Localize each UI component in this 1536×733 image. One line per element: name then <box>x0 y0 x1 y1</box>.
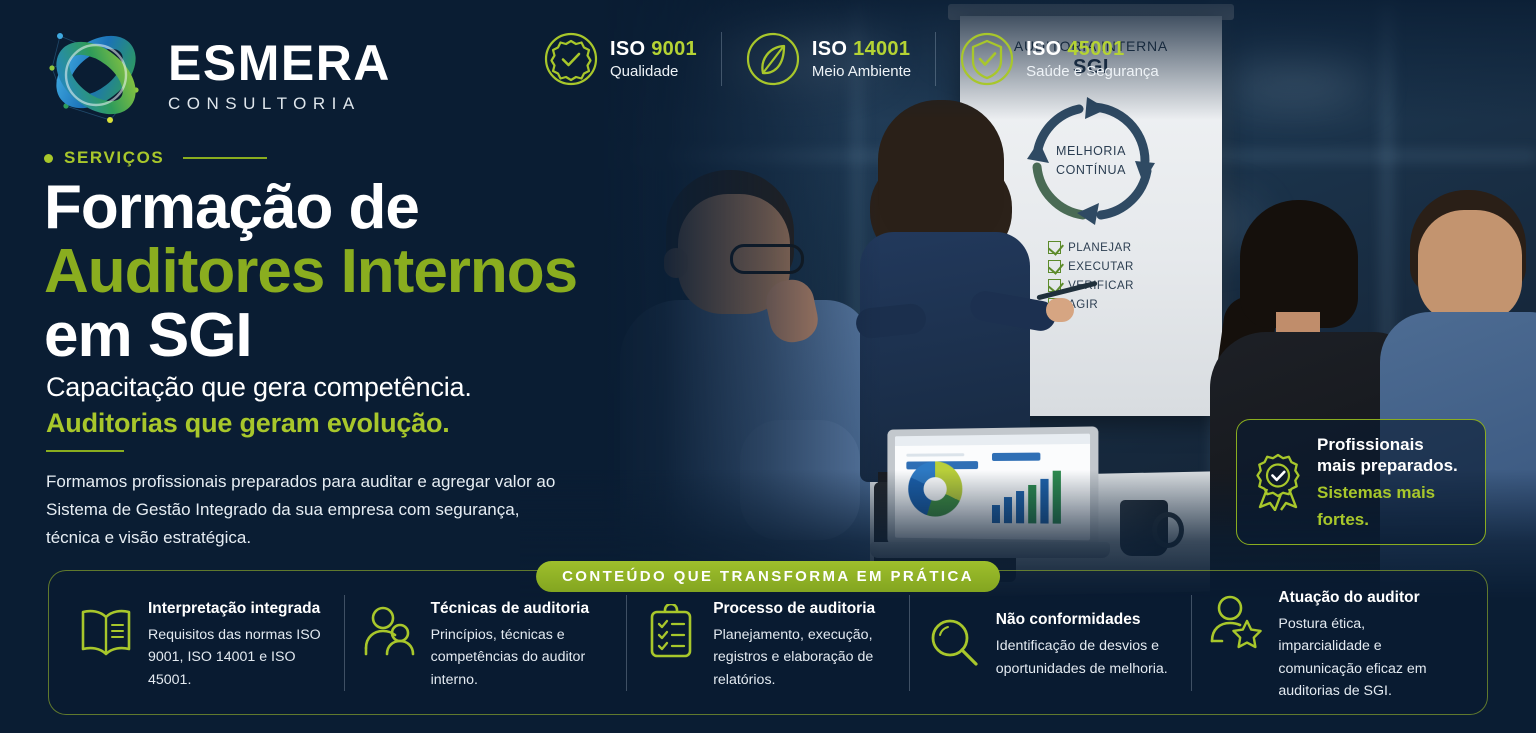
feature-title: Interpretação integrada <box>148 600 328 618</box>
pro-card-line-2: mais preparados. <box>1317 455 1458 477</box>
award-ribbon-check-icon <box>1251 453 1305 511</box>
hero-paragraph: Formamos profissionais preparados para a… <box>46 468 566 552</box>
magnifier-icon <box>926 615 982 671</box>
feature-processo-de-auditoria[interactable]: Processo de auditoria Planejamento, exec… <box>627 594 909 691</box>
feature-tecnicas-de-auditoria[interactable]: Técnicas de auditoria Princípios, técnic… <box>345 594 627 691</box>
brand-name: ESMERA <box>168 38 391 88</box>
headline-line-3: em SGI <box>44 301 252 370</box>
pro-card-line-4: fortes. <box>1317 509 1458 531</box>
headline-line-2: Auditores Internos <box>44 237 577 306</box>
iso-badge-title: ISO 45001 <box>1026 38 1159 61</box>
leaf-icon <box>746 32 800 86</box>
iso-badge-label: Qualidade <box>610 63 697 80</box>
iso-badge-label: Saúde e Segurança <box>1026 63 1159 80</box>
iso-badge-title: ISO 9001 <box>610 38 697 61</box>
tagline-rule <box>46 450 124 452</box>
headline-line-1: Formação de <box>44 173 419 242</box>
feature-desc: Princípios, técnicas e competências do a… <box>431 624 611 691</box>
esmera-knot-logo-icon <box>40 20 152 132</box>
feature-desc: Planejamento, execução, registros e elab… <box>713 624 893 691</box>
tagline-white: Capacitação que gera competência. <box>46 372 472 403</box>
shield-check-icon <box>960 32 1014 86</box>
brand-logo[interactable]: ESMERA CONSULTORIA <box>40 20 391 132</box>
feature-desc: Requisitos das normas ISO 9001, ISO 1400… <box>148 624 328 691</box>
eyebrow: SERVIÇOS <box>44 148 267 168</box>
iso-badges-row: ISO 9001 Qualidade ISO 14001 Meio Ambien… <box>520 32 1183 86</box>
checklist-item: EXECUTAR <box>1048 260 1134 273</box>
pro-card-line-3: Sistemas mais <box>1317 482 1458 504</box>
feature-desc: Identificação de desvios e oportunidades… <box>996 635 1176 680</box>
feature-nao-conformidades[interactable]: Não conformidades Identificação de desvi… <box>910 605 1192 680</box>
marketing-banner: AUDITORIA INTERNA SGI MELHORIA <box>0 0 1536 733</box>
person-star-icon <box>1208 593 1264 649</box>
highlight-pill: CONTEÚDO QUE TRANSFORMA EM PRÁTICA <box>536 561 1000 592</box>
eyebrow-rule <box>183 157 267 159</box>
clipboard-checklist-icon <box>643 604 699 660</box>
iso-badge-45001[interactable]: ISO 45001 Saúde e Segurança <box>936 32 1183 86</box>
iso-badge-label: Meio Ambiente <box>812 63 911 80</box>
pro-card-line-1: Profissionais <box>1317 434 1458 456</box>
brand-tagline: CONSULTORIA <box>168 94 391 114</box>
iso-badge-14001[interactable]: ISO 14001 Meio Ambiente <box>722 32 935 86</box>
bullet-dot-icon <box>44 154 53 163</box>
eyebrow-label: SERVIÇOS <box>64 148 164 168</box>
feature-title: Técnicas de auditoria <box>431 600 611 618</box>
tagline-green: Auditorias que geram evolução. <box>46 408 450 439</box>
people-team-icon <box>361 604 417 660</box>
feature-title: Processo de auditoria <box>713 600 893 618</box>
iso-badge-9001[interactable]: ISO 9001 Qualidade <box>520 32 721 86</box>
feature-atuacao-do-auditor[interactable]: Atuação do auditor Postura ética, imparc… <box>1192 583 1474 703</box>
feature-title: Não conformidades <box>996 611 1176 629</box>
quality-seal-check-icon <box>544 32 598 86</box>
feature-desc: Postura ética, imparcialidade e comunica… <box>1278 613 1458 703</box>
feature-interpretacao-integrada[interactable]: Interpretação integrada Requisitos das n… <box>62 594 344 691</box>
professionals-card: Profissionais mais preparados. Sistemas … <box>1236 419 1486 545</box>
feature-title: Atuação do auditor <box>1278 589 1458 607</box>
page-title: Formação de Auditores Internos em SGI <box>44 176 644 368</box>
iso-badge-title: ISO 14001 <box>812 38 911 61</box>
open-book-icon <box>78 604 134 660</box>
checklist-item: PLANEJAR <box>1048 241 1134 254</box>
